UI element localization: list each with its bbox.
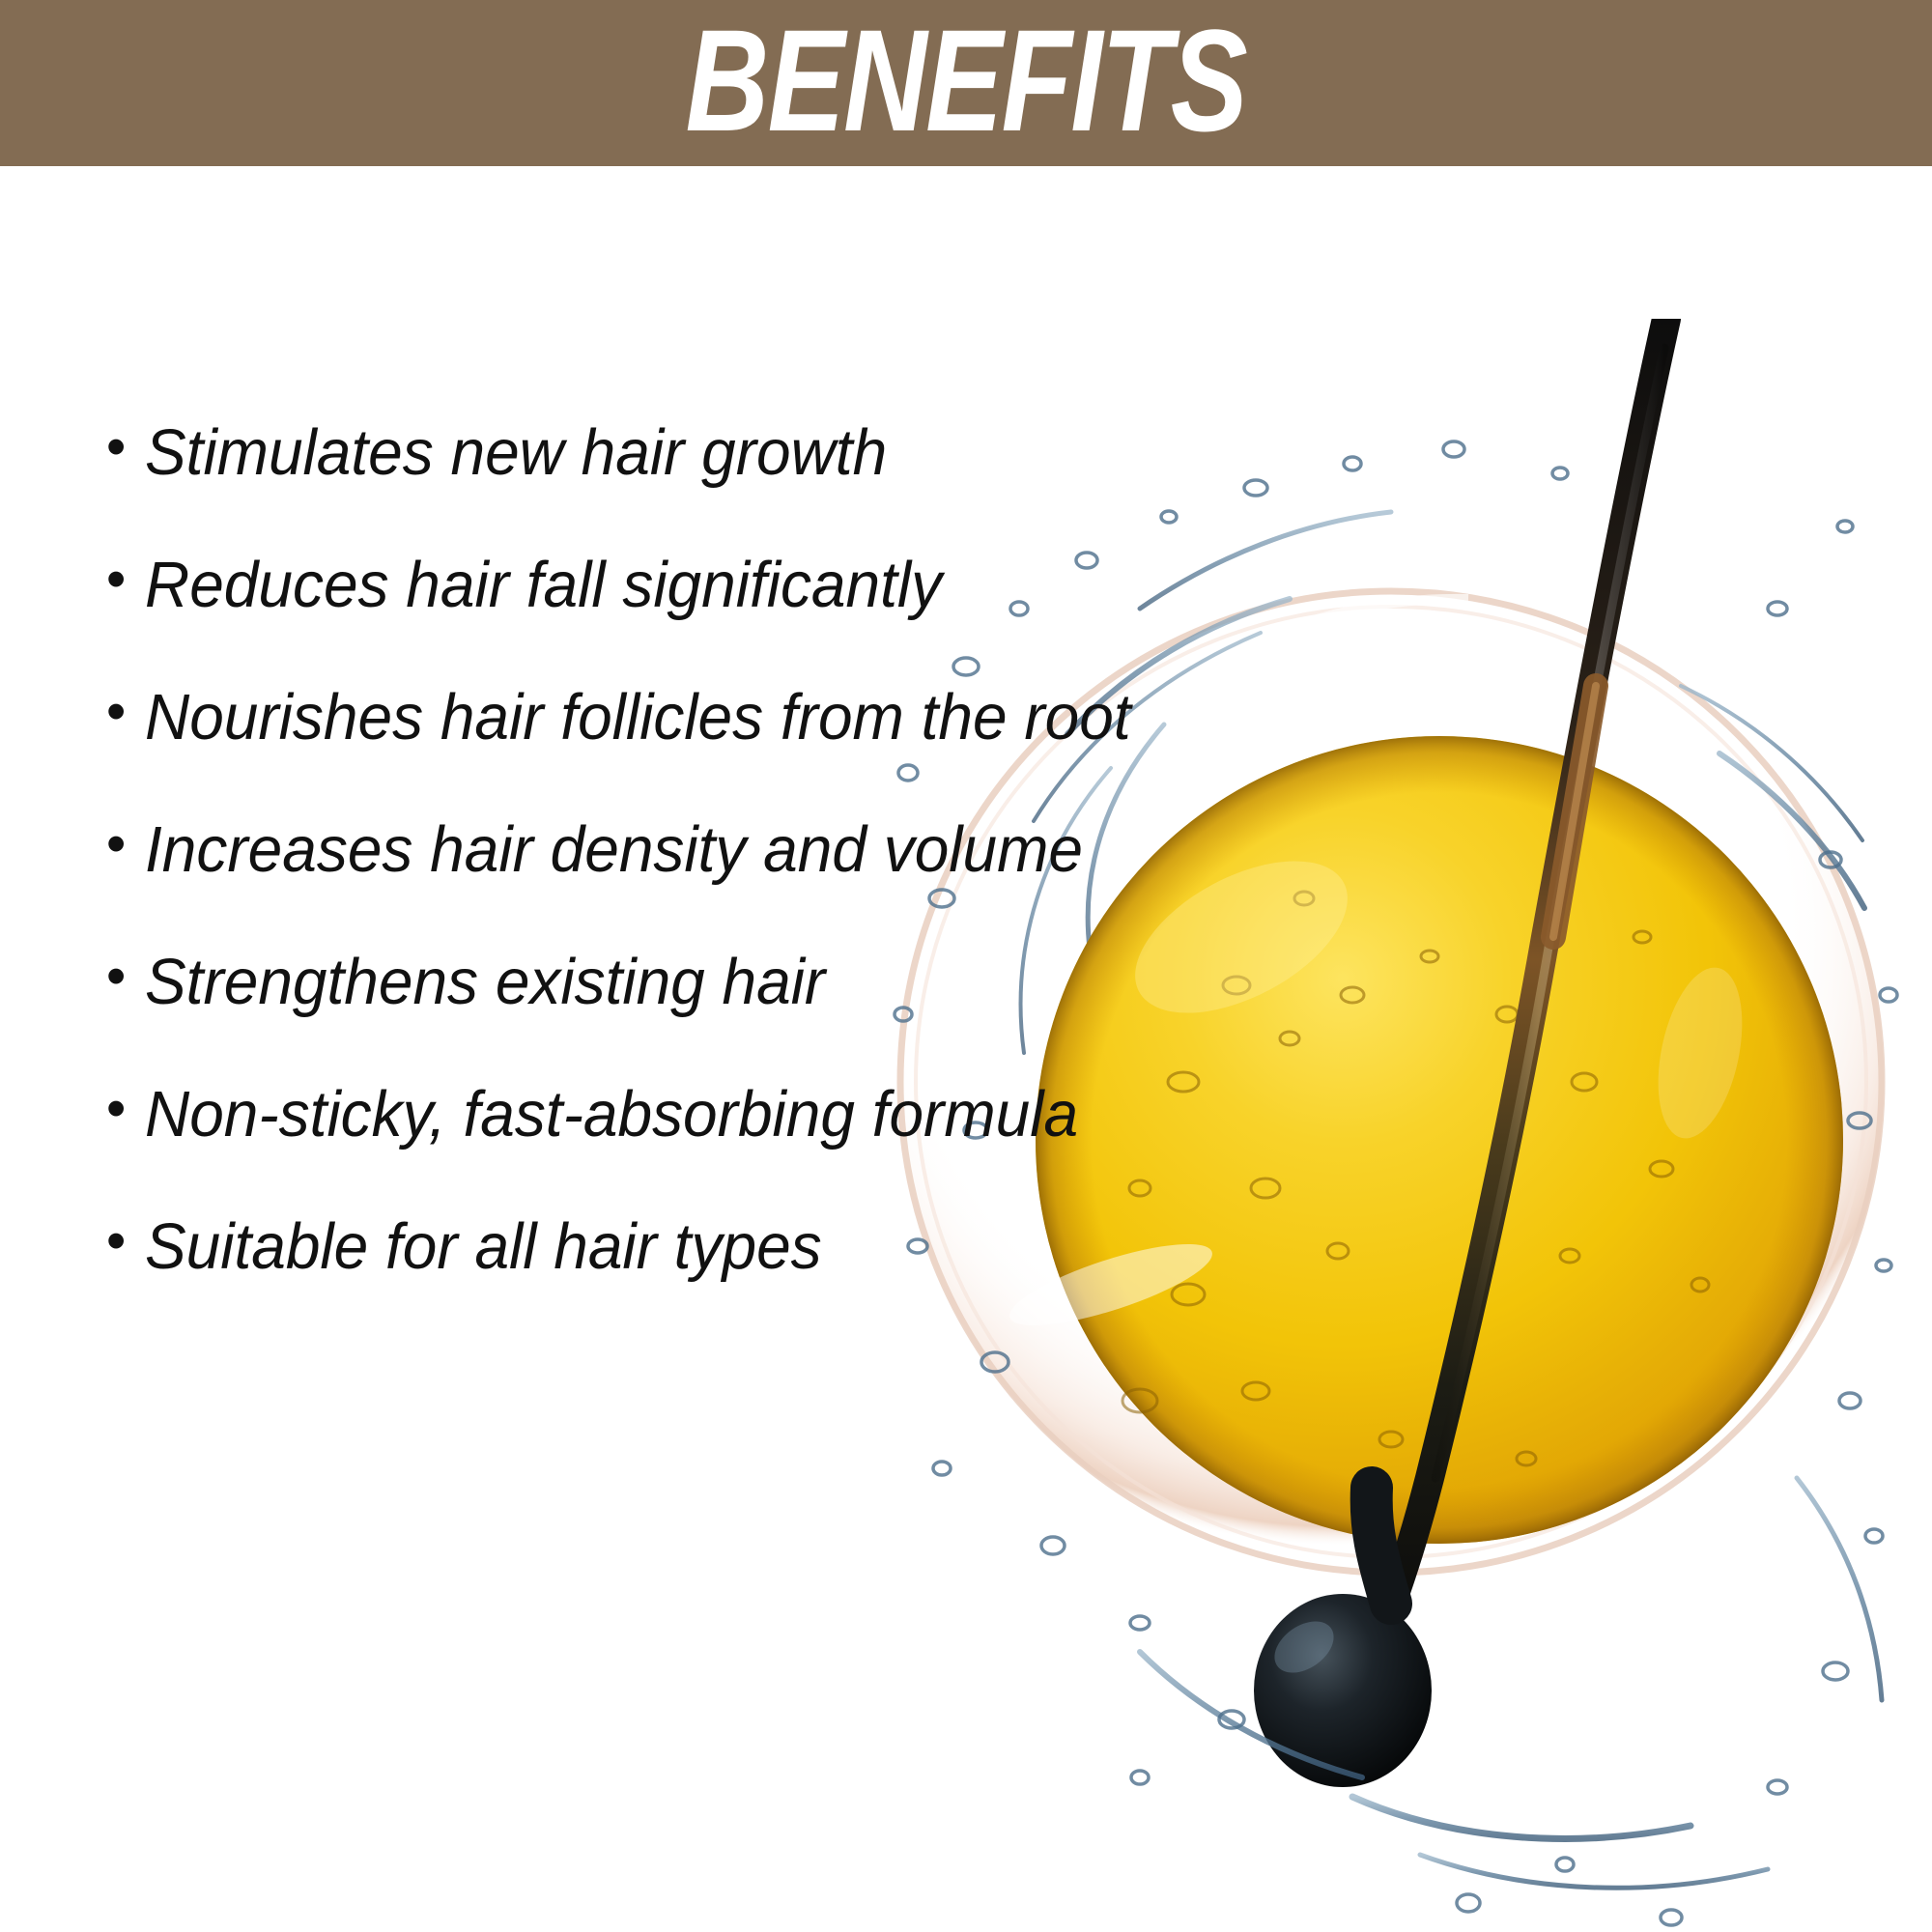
bullet-icon: •: [106, 816, 145, 872]
page-title: BENEFITS: [686, 8, 1247, 153]
bullet-icon: •: [106, 419, 145, 475]
bullet-icon: •: [106, 684, 145, 740]
benefit-item: • Nourishes hair follicles from the root: [106, 651, 1362, 783]
benefit-label: Suitable for all hair types: [145, 1214, 822, 1279]
benefit-item: • Non-sticky, fast-absorbing formula: [106, 1048, 1362, 1180]
benefit-label: Strengthens existing hair: [145, 950, 825, 1014]
bullet-icon: •: [106, 949, 145, 1005]
benefit-label: Increases hair density and volume: [145, 817, 1083, 882]
benefit-item: • Strengthens existing hair: [106, 916, 1362, 1048]
benefit-item: • Increases hair density and volume: [106, 783, 1362, 916]
bullet-icon: •: [106, 552, 145, 608]
benefit-item: • Stimulates new hair growth: [106, 386, 1362, 519]
benefit-label: Nourishes hair follicles from the root: [145, 685, 1131, 750]
benefit-label: Reduces hair fall significantly: [145, 553, 942, 617]
benefit-label: Non-sticky, fast-absorbing formula: [145, 1082, 1078, 1147]
benefits-list: • Stimulates new hair growth • Reduces h…: [106, 386, 1362, 1313]
header-band: BENEFITS: [0, 0, 1932, 166]
benefit-item: • Reduces hair fall significantly: [106, 519, 1362, 651]
benefits-page: BENEFITS: [0, 0, 1932, 1932]
benefit-item: • Suitable for all hair types: [106, 1180, 1362, 1313]
benefit-label: Stimulates new hair growth: [145, 420, 887, 485]
bullet-icon: •: [106, 1213, 145, 1269]
bullet-icon: •: [106, 1081, 145, 1137]
